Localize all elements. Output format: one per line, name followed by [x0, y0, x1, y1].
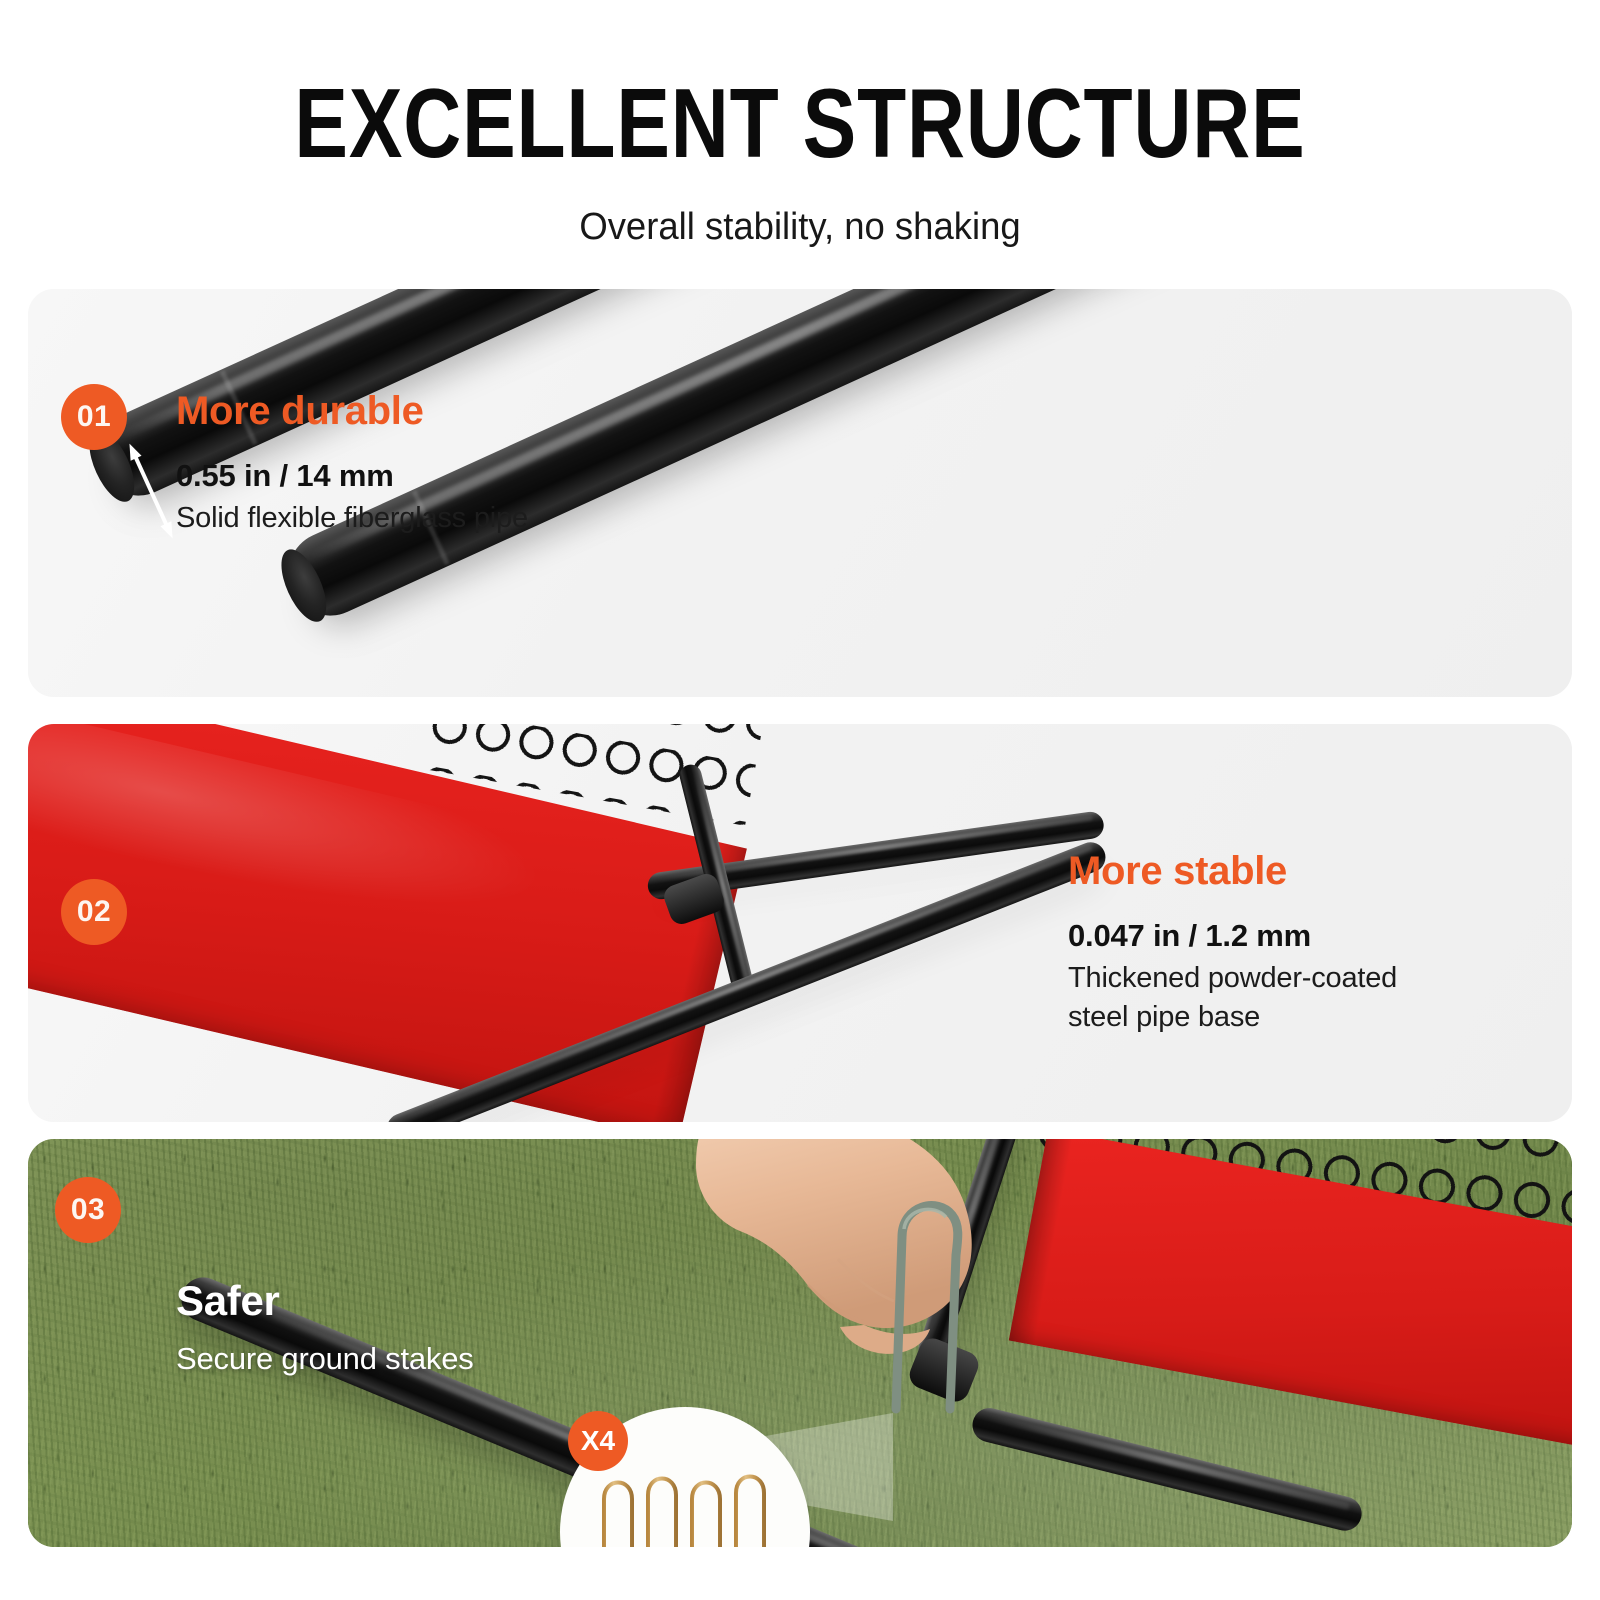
stake-quantity-badge: X4 [568, 1411, 628, 1471]
hand-holding-stake [688, 1139, 1108, 1439]
feature-badge-01: 01 [61, 384, 127, 450]
feature-title: Safer [176, 1277, 474, 1325]
u-stake-icon-group [598, 1465, 774, 1547]
feature-title: More stable [1068, 849, 1397, 894]
feature-spec: 0.55 in / 14 mm [176, 458, 528, 494]
header: EXCELLENT STRUCTURE Overall stability, n… [0, 0, 1600, 249]
feature-title: More durable [176, 389, 528, 434]
feature-description-line1: Thickened powder-coated [1068, 960, 1397, 997]
feature-description: Solid flexible fiberglass pipe [176, 500, 528, 537]
feature-text-01: More durable 0.55 in / 14 mm Solid flexi… [176, 389, 528, 537]
feature-card-03: X4 03 Saf [28, 1139, 1572, 1547]
page-subtitle: Overall stability, no shaking [32, 206, 1568, 249]
feature-text-02: More stable 0.047 in / 1.2 mm Thickened … [1068, 849, 1397, 1036]
feature-description-line2: steel pipe base [1068, 999, 1397, 1036]
feature-card-02: 02 More stable 0.047 in / 1.2 mm Thicken… [28, 724, 1572, 1122]
feature-spec: 0.047 in / 1.2 mm [1068, 918, 1397, 954]
feature-card-01: 01 More durable 0.55 in / 14 mm Solid fl… [28, 289, 1572, 697]
pipe-end-cap [272, 543, 335, 628]
feature-badge-02: 02 [61, 879, 127, 945]
page-title: EXCELLENT STRUCTURE [144, 74, 1456, 172]
feature-description: Secure ground stakes [176, 1339, 474, 1379]
feature-text-03: Safer Secure ground stakes [176, 1277, 474, 1379]
feature-badge-03: 03 [55, 1177, 121, 1243]
